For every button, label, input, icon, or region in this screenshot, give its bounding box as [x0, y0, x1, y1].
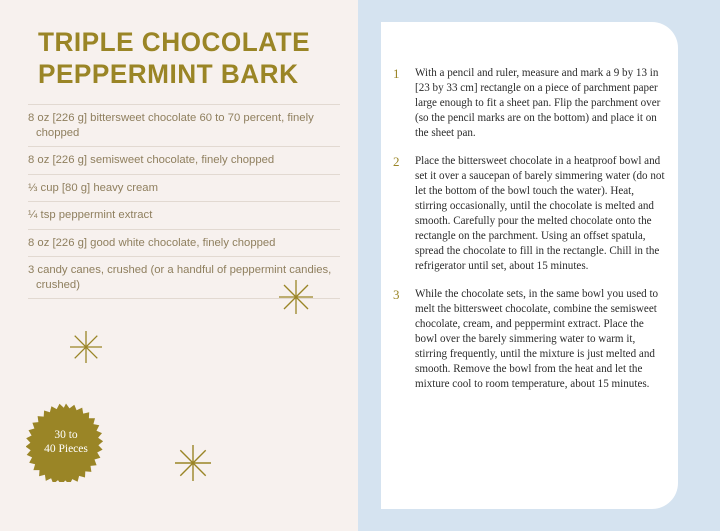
starburst-icon	[26, 402, 106, 482]
instruction-step: 1 With a pencil and ruler, measure and m…	[393, 66, 665, 141]
ingredients-column: TRIPLE CHOCOLATE PEPPERMINT BARK 8 oz [2…	[0, 0, 358, 531]
snowflake-icon	[277, 278, 315, 316]
ingredient-text: 8 oz [226 g] good white chocolate, finel…	[28, 236, 338, 251]
snowflake-icon	[173, 443, 213, 483]
list-item: ⅓ cup [80 g] heavy cream	[28, 175, 340, 203]
instruction-step: 2 Place the bittersweet chocolate in a h…	[393, 154, 665, 274]
list-item: 8 oz [226 g] good white chocolate, finel…	[28, 230, 340, 258]
instruction-steps: 1 With a pencil and ruler, measure and m…	[393, 66, 665, 405]
ingredient-text: ⅓ cup [80 g] heavy cream	[28, 181, 338, 196]
step-number: 1	[393, 66, 415, 81]
list-item: ¼ tsp peppermint extract	[28, 202, 340, 230]
ingredient-text: ¼ tsp peppermint extract	[28, 208, 338, 223]
list-item: 8 oz [226 g] bittersweet chocolate 60 to…	[28, 105, 340, 147]
step-text: Place the bittersweet chocolate in a hea…	[415, 154, 665, 274]
recipe-page: TRIPLE CHOCOLATE PEPPERMINT BARK 8 oz [2…	[0, 0, 720, 531]
step-number: 2	[393, 154, 415, 169]
page-title-line-1: TRIPLE CHOCOLATE	[38, 26, 319, 58]
step-number: 3	[393, 287, 415, 302]
list-item: 8 oz [226 g] semisweet chocolate, finely…	[28, 147, 340, 175]
page-title: TRIPLE CHOCOLATE PEPPERMINT BARK	[38, 26, 319, 90]
ingredient-text: 8 oz [226 g] bittersweet chocolate 60 to…	[28, 111, 338, 140]
page-title-line-2: PEPPERMINT BARK	[38, 58, 319, 90]
snowflake-icon	[68, 329, 104, 365]
instruction-step: 3 While the chocolate sets, in the same …	[393, 287, 665, 392]
ingredient-text: 8 oz [226 g] semisweet chocolate, finely…	[28, 153, 338, 168]
step-text: While the chocolate sets, in the same bo…	[415, 287, 665, 392]
step-text: With a pencil and ruler, measure and mar…	[415, 66, 665, 141]
yield-badge: 30 to 40 Pieces	[26, 402, 106, 482]
ingredient-list: 8 oz [226 g] bittersweet chocolate 60 to…	[28, 104, 340, 299]
